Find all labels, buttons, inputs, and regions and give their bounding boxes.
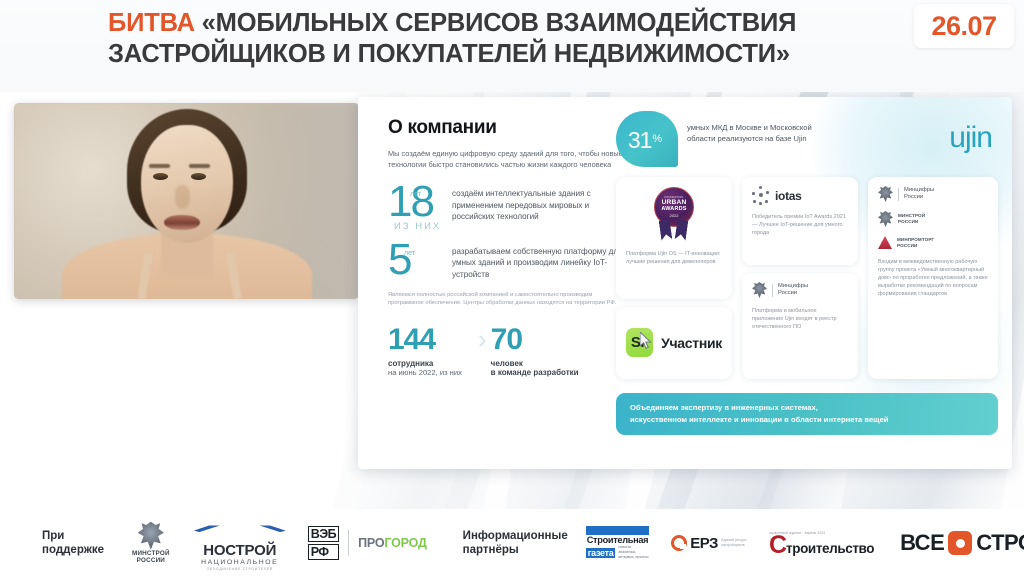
- card-description: Платформа и мобильное приложение Ujin вх…: [752, 307, 848, 331]
- chevron-right-icon: ›: [478, 324, 487, 354]
- logo-stroitelstvo[interactable]: отраслевой журнал · апрель 2022 C троите…: [769, 531, 874, 556]
- slide-right-column: 31% умных МКД в Москве и Московской обла…: [616, 111, 998, 171]
- header-bar: БИТВА «МОБИЛЬНЫХ СЕРВИСОВ ВЗАИМОДЕЙСТВИЯ…: [0, 0, 1024, 92]
- percent-sign: %: [652, 133, 661, 145]
- card-iotas[interactable]: iotas Победитель премии IoT Awards 2021 …: [742, 177, 858, 265]
- coat-of-arms-icon: [878, 186, 893, 202]
- urban-awards-medal-icon: FOUNDATION URBAN AWARDS 2022: [649, 187, 699, 243]
- slide-footnote: Являемся полностью российской компанией …: [388, 291, 623, 308]
- percent-highlight: 31% умных МКД в Москве и Московской обла…: [616, 111, 998, 171]
- kpi-number: 144: [388, 324, 484, 356]
- stat-row-5-years: 5 лет разрабатываем собственную платформ…: [388, 240, 623, 281]
- slide-left-column: О компании Мы создаём единую цифровую ср…: [388, 117, 623, 379]
- banner-line-2: искусственном интеллекте и инновации в о…: [630, 414, 984, 426]
- erz-wordmark: ЕРЗ: [690, 535, 718, 552]
- logo-minstroy[interactable]: МИНСТРОЙ РОССИИ: [132, 522, 170, 565]
- medal-top-text: FOUNDATION: [665, 196, 684, 199]
- stat-description: создаём интеллектуальные здания с примен…: [452, 182, 623, 223]
- kpi-sublabel: в команде разработки: [491, 368, 587, 379]
- logo-main: НОСТРОЙ: [194, 543, 286, 558]
- vse-part-1: ВСЕ: [900, 530, 944, 556]
- org-name: Минцифры России: [904, 187, 934, 201]
- vse-part-2: СТРОЙКЕ: [976, 530, 1024, 556]
- speaker-video-tile[interactable]: [14, 103, 359, 299]
- journal-initial: C: [769, 535, 786, 556]
- vse-o-dot-icon: [948, 531, 972, 555]
- kpi-row: 144 сотрудника на июнь 2022, из них › 70…: [388, 324, 623, 379]
- gazeta-top-band: [586, 526, 650, 535]
- journal-wordmark: троительство: [786, 542, 874, 556]
- org-name: Минцифры России: [778, 283, 808, 297]
- banner-line-1: Объединяем экспертизу в инженерных систе…: [630, 402, 984, 414]
- title-highlight: БИТВА: [108, 9, 195, 37]
- kpi-label: сотрудника: [388, 359, 484, 368]
- coat-of-arms-icon: [878, 211, 893, 227]
- iotas-icon: [752, 186, 770, 206]
- kpi-number: 70: [491, 324, 587, 356]
- org-row-minpromtorg: МИНПРОМТОРГ РОССИИ: [878, 236, 988, 249]
- title-rest: «МОБИЛЬНЫХ СЕРВИСОВ ВЗАИМОДЕЙСТВИЯ ЗАСТР…: [108, 9, 796, 68]
- org-row-minstroy: МИНСТРОЙ РОССИИ: [878, 211, 988, 227]
- date-badge: 26.07: [914, 4, 1014, 48]
- stat-number: 18 лет: [388, 182, 452, 222]
- divider: [348, 530, 349, 556]
- kpi-sublabel: на июнь 2022, из них: [388, 368, 484, 379]
- percent-description: умных МКД в Москве и Московской области …: [678, 111, 828, 145]
- iotas-wordmark: iotas: [775, 189, 802, 203]
- logo-erz[interactable]: ЕРЗ Единый ресурс застройщиков: [671, 535, 755, 552]
- gazeta-sub: новости, аналитика, интервью, проекты: [615, 545, 649, 560]
- logo-line-2: РОССИИ: [132, 557, 170, 564]
- percent-drop-shape: 31%: [616, 111, 678, 167]
- gazeta-line-2: газета: [586, 548, 616, 558]
- logo-tiny: ОБЪЕДИНЕНИЕ СТРОИТЕЛЕЙ: [194, 567, 286, 571]
- progorod-wordmark: ПРОГОРОД: [358, 536, 427, 550]
- kpi-label: человек: [491, 359, 587, 368]
- card-skolkovo[interactable]: Sk Участник: [616, 307, 732, 379]
- mouse-pointer-icon: [640, 332, 652, 350]
- org-row-mincifry: Минцифры России: [878, 186, 988, 202]
- presentation-slide[interactable]: О компании Мы создаём единую цифровую ср…: [358, 97, 1012, 469]
- support-label: При поддержке: [42, 529, 104, 557]
- card-mincifry[interactable]: Минцифры России Платформа и мобильное пр…: [742, 273, 858, 379]
- percent-value: 31%: [628, 127, 660, 154]
- speaker-figure: [14, 103, 359, 299]
- erz-sub: Единый ресурс застройщиков: [721, 538, 755, 547]
- medal-year: 2022: [670, 213, 679, 218]
- org-name: МИНПРОМТОРГ РОССИИ: [897, 237, 934, 248]
- card-urban-awards[interactable]: FOUNDATION URBAN AWARDS 2022 Платформа U…: [616, 177, 732, 299]
- stat-unit: лет: [410, 175, 421, 215]
- veb-line-2: РФ: [308, 544, 339, 560]
- card-description: Входим в межведомственную рабочую группу…: [878, 258, 988, 298]
- kpi-employees: 144 сотрудника на июнь 2022, из них: [388, 324, 484, 379]
- partners-label: Информационные партнёры: [463, 529, 568, 557]
- stat-number: 5 лет: [388, 240, 452, 280]
- erz-ring-icon: [671, 535, 687, 551]
- card-description: Победитель премии IoT Awards 2021 — Лучш…: [752, 213, 848, 237]
- stat-row-18-years: 18 лет создаём интеллектуальные здания с…: [388, 182, 623, 223]
- nostroy-roof-icon: [194, 515, 286, 541]
- date-badge-text: 26.07: [931, 11, 996, 42]
- medal-line1: URBAN: [662, 199, 687, 206]
- card-ministries[interactable]: Минцифры России МИНСТРОЙ РОССИИ МИНПРОМТ…: [868, 177, 998, 379]
- skolkovo-label: Участник: [661, 335, 722, 351]
- logo-line-1: МИНСТРОЙ: [132, 550, 170, 557]
- stat-description: разрабатываем собственную платформу для …: [452, 240, 623, 281]
- slide-lead-paragraph: Мы создаём единую цифровую среду зданий …: [388, 148, 623, 170]
- logo-veb-progorod[interactable]: ВЭБ РФ ПРОГОРОД: [308, 526, 427, 560]
- credentials-card-grid: FOUNDATION URBAN AWARDS 2022 Платформа U…: [616, 177, 998, 387]
- logo-stroitelnaya-gazeta[interactable]: Строительная газета новости, аналитика, …: [586, 526, 650, 560]
- coat-of-arms-icon: [138, 522, 164, 550]
- stat-unit: лет: [404, 234, 415, 274]
- logo-nostroy[interactable]: НОСТРОЙ НАЦИОНАЛЬНОЕ ОБЪЕДИНЕНИЕ СТРОИТЕ…: [194, 515, 286, 571]
- slide-heading: О компании: [388, 117, 623, 139]
- logo-sub: НАЦИОНАЛЬНОЕ: [194, 558, 286, 567]
- coat-of-arms-icon: [752, 282, 767, 298]
- card-description: Платформа Ujin OS — IT-инновация: лучшие…: [626, 250, 722, 266]
- sponsor-footer-bar: При поддержке МИНСТРОЙ РОССИИ НОСТРОЙ НА…: [0, 509, 1024, 577]
- page-title: БИТВА «МОБИЛЬНЫХ СЕРВИСОВ ВЗАИМОДЕЙСТВИЯ…: [108, 8, 898, 70]
- gazeta-line-1: Строительная: [586, 535, 650, 545]
- ujin-logo: ujin: [949, 121, 992, 155]
- org-name: МИНСТРОЙ РОССИИ: [898, 213, 925, 224]
- kpi-developers: 70 человек в команде разработки: [491, 324, 587, 379]
- veb-line-1: ВЭБ: [308, 526, 339, 542]
- slide-summary-banner: Объединяем экспертизу в инженерных систе…: [616, 393, 998, 435]
- logo-vse-o-stroike[interactable]: ВСЕ СТРОЙКЕ: [900, 530, 1024, 556]
- medal-line2: AWARDS: [661, 206, 686, 212]
- minpromtorg-icon: [878, 236, 892, 249]
